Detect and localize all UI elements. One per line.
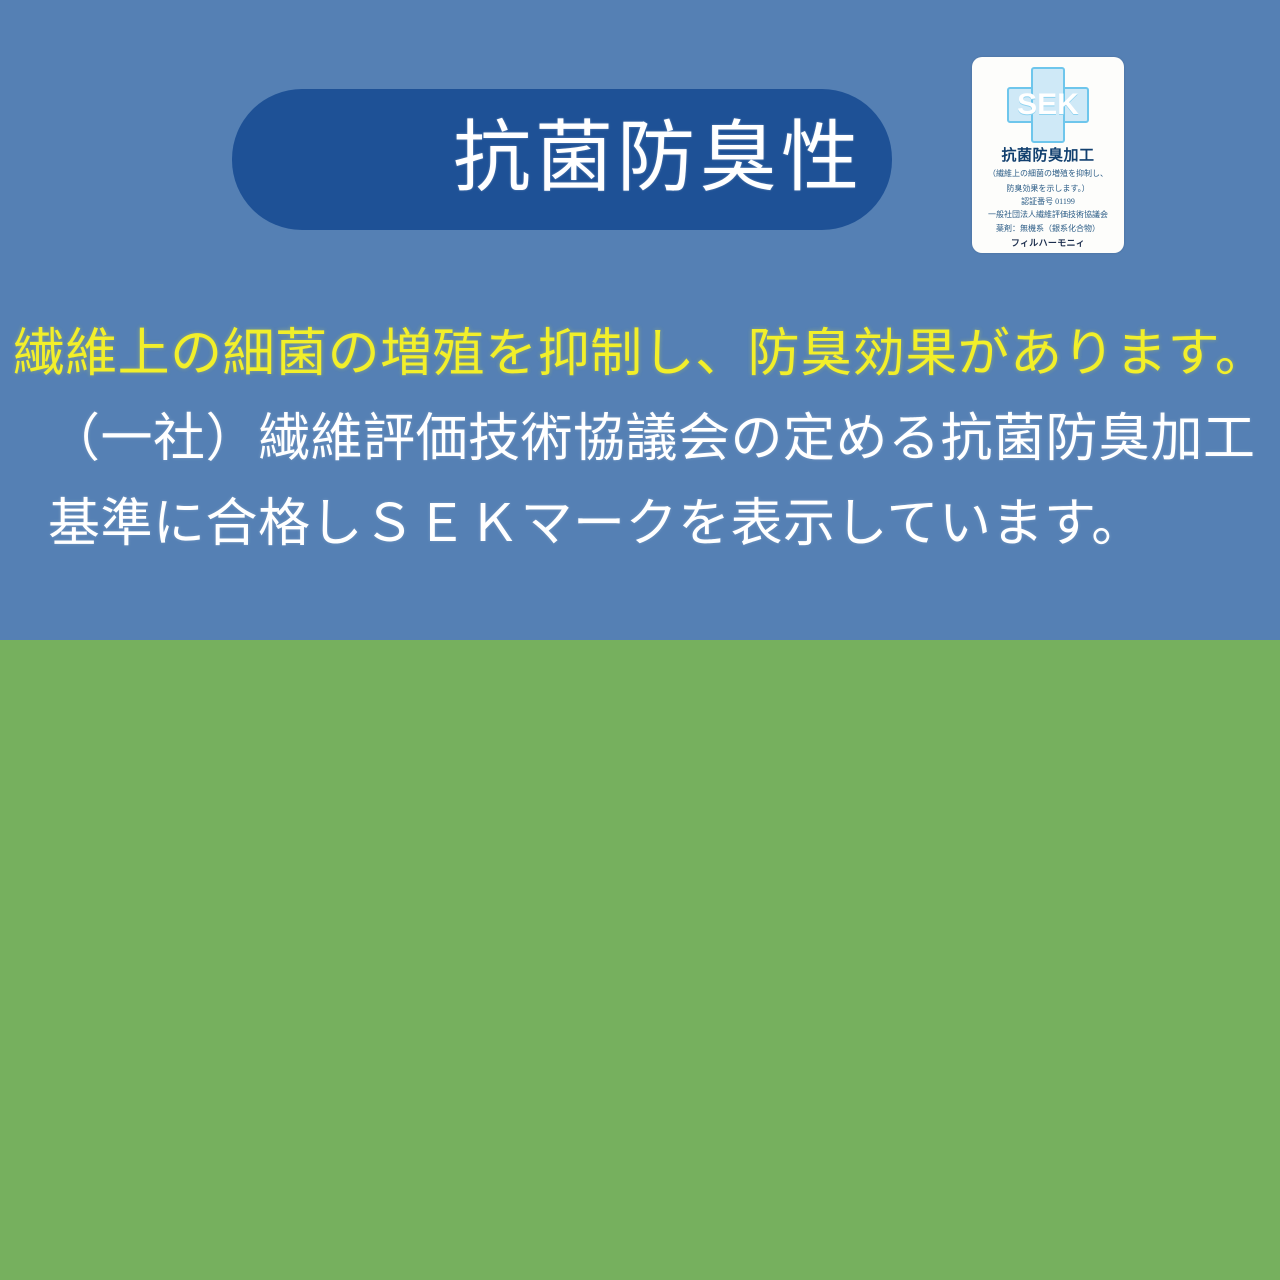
- sek-registration-number: 認証番号 01199: [1021, 197, 1075, 207]
- antibacterial-line-3: 基準に合格しＳＥＫマークを表示しています。: [0, 482, 1280, 567]
- antibacterial-title-pill: 抗菌防臭性: [232, 89, 892, 230]
- antibacterial-body-copy: 繊維上の細菌の増殖を抑制し、防臭効果があります。 （一社）繊維評価技術協議会の定…: [0, 312, 1280, 567]
- antibacterial-line-2: （一社）繊維評価技術協議会の定める抗菌防臭加工: [0, 397, 1280, 482]
- sek-certification-mark: SEK 抗菌防臭加工 （繊維上の細菌の増殖を抑制し、 防臭効果を示します。） 認…: [972, 57, 1124, 253]
- section-antibacterial: 抗菌防臭性 SEK 抗菌防臭加工 （繊維上の細菌の増殖を抑制し、 防臭効果を示し…: [0, 0, 1280, 640]
- antibacterial-title: 抗菌防臭性: [453, 119, 863, 197]
- antibacterial-line-1: 繊維上の細菌の増殖を抑制し、防臭効果があります。: [0, 312, 1280, 397]
- sek-sub-line-1: （繊維上の細菌の増殖を抑制し、: [988, 169, 1108, 179]
- sek-sub-line-2: 防臭効果を示します。）: [1006, 184, 1089, 194]
- section-antimite: 防ダニ性 インテリアファブリックス性能評価協議会の防ダニ 加工増殖抑制効果の認定…: [0, 640, 1280, 1280]
- product-feature-card: 抗菌防臭性 SEK 抗菌防臭加工 （繊維上の細菌の増殖を抑制し、 防臭効果を示し…: [0, 0, 1280, 1280]
- sek-cross-icon: SEK: [1007, 67, 1089, 143]
- sek-brand: フィルハーモニィ: [1011, 239, 1085, 248]
- sek-agent: 薬剤：無機系（銀系化合物）: [996, 224, 1100, 234]
- sek-organization: 一般社団法人繊維評価技術協議会: [988, 210, 1108, 220]
- sek-heading: 抗菌防臭加工: [1001, 149, 1094, 164]
- sek-letters: SEK: [1007, 85, 1089, 125]
